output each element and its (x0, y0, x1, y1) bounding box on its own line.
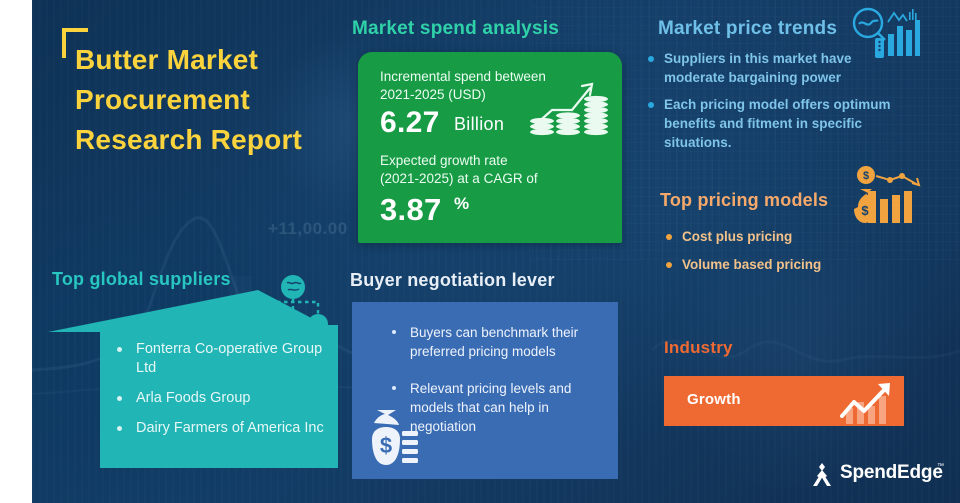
incremental-spend-label-line1: Incremental spend between (380, 68, 546, 86)
industry-heading: Industry (664, 338, 733, 358)
top-global-suppliers-bubble: Fonterra Co-operative Group Ltd Arla Foo… (48, 290, 338, 468)
spendedge-logo: SpendEdge ™ (808, 461, 948, 491)
top-global-suppliers-heading: Top global suppliers (52, 269, 231, 290)
page-title: Butter Market Procurement Research Repor… (75, 40, 375, 159)
list-item: Cost plus pricing (664, 228, 894, 247)
status-badge-label: Growth (687, 391, 741, 408)
list-item: Each pricing model offers optimum benefi… (646, 96, 898, 152)
money-bag-list-icon: $ (364, 409, 418, 471)
infographic-root: +11,00.00 Butter Market Procurement Rese… (0, 0, 960, 503)
list-item: Volume based pricing (664, 256, 894, 275)
spendedge-chevron-mark (808, 462, 836, 488)
list-item: Suppliers in this market have moderate b… (646, 50, 898, 87)
suppliers-list: Fonterra Co-operative Group Ltd Arla Foo… (114, 340, 340, 450)
incremental-spend-unit: Billion (454, 114, 504, 135)
growth-rate-label-line2: (2021-2025) at a CAGR of (380, 170, 538, 188)
logo-wordmark: SpendEdge (840, 462, 943, 484)
money-bag-declining-chart-icon: $ $ (850, 163, 926, 229)
top-pricing-models-bullets: Cost plus pricing Volume based pricing (664, 228, 894, 283)
growth-rate-label-line1: Expected growth rate (380, 152, 508, 170)
bullet-text: Volume based pricing (682, 257, 821, 272)
buyer-negotiation-lever-card: Buyers can benchmark their preferred pri… (352, 302, 618, 479)
bullet-text: Cost plus pricing (682, 229, 792, 244)
list-item: Arla Foods Group (114, 389, 340, 408)
market-price-trends-bullets: Suppliers in this market have moderate b… (646, 50, 898, 161)
market-spend-heading: Market spend analysis (352, 18, 559, 40)
background-watermark-number: +11,00.00 (268, 219, 348, 239)
bullet-text: Suppliers in this market have moderate b… (664, 51, 852, 85)
svg-text:$: $ (380, 433, 392, 458)
negotiation-bullets: Buyers can benchmark their preferred pri… (386, 324, 604, 455)
cagr-value: 3.87 (380, 192, 442, 228)
incremental-spend-label-line2: 2021-2025 (USD) (380, 86, 486, 104)
svg-text:$: $ (861, 203, 869, 218)
list-item: Dairy Farmers of America Inc (114, 419, 340, 438)
top-pricing-models-heading: Top pricing models (660, 190, 828, 211)
incremental-spend-value: 6.27 (380, 106, 440, 140)
list-item: Buyers can benchmark their preferred pri… (386, 324, 604, 361)
list-item: Relevant pricing levels and models that … (386, 380, 604, 436)
list-item: Fonterra Co-operative Group Ltd (114, 340, 340, 378)
growth-arrow-bars-icon (838, 380, 896, 424)
industry-status-badge: Growth (664, 376, 904, 426)
market-spend-card: Incremental spend between 2021-2025 (USD… (358, 52, 622, 243)
bullet-text: Each pricing model offers optimum benefi… (664, 97, 891, 149)
logo-trademark-symbol: ™ (937, 463, 944, 470)
coin-stacks-growth-icon (526, 74, 612, 140)
buyer-negotiation-lever-heading: Buyer negotiation lever (350, 270, 555, 291)
svg-text:$: $ (863, 170, 869, 182)
cagr-unit: % (454, 194, 469, 214)
market-price-trends-heading: Market price trends (658, 18, 837, 40)
